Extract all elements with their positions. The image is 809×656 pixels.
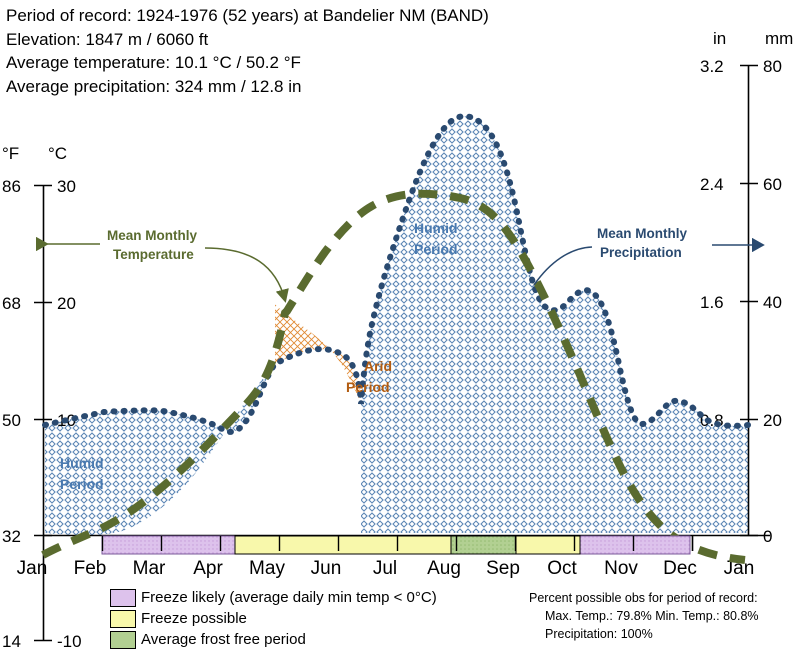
temp-annotation-line2: Temperature bbox=[113, 247, 194, 262]
right-unit-in: in bbox=[713, 29, 726, 48]
mm-tick-0: 0 bbox=[763, 527, 772, 546]
legend-row-freeze-possible: Freeze possible bbox=[110, 608, 437, 629]
f-tick-68: 68 bbox=[2, 294, 21, 313]
climate-diagram: °F °C 86 68 50 32 14 30 20 10 -10 in mm … bbox=[0, 0, 809, 656]
month-label-jul: Jul bbox=[373, 558, 397, 579]
frost-band-freeze-possible-october bbox=[516, 536, 580, 554]
legend-label-freeze-possible: Freeze possible bbox=[141, 610, 247, 627]
stats-line-temp: Max. Temp.: 79.8% Min. Temp.: 80.8% bbox=[529, 607, 759, 625]
humid-right-line2: Period bbox=[414, 241, 458, 257]
humid-region-left bbox=[45, 364, 275, 535]
humid-left-line1: Humid bbox=[60, 455, 104, 471]
legend-label-frost-free: Average frost free period bbox=[141, 631, 306, 648]
precip-annotation-line1: Mean Monthly bbox=[597, 226, 687, 241]
precip-annotation-curved-arrow bbox=[534, 247, 592, 285]
c-tick-30: 30 bbox=[57, 177, 76, 196]
arid-line2: Period bbox=[346, 379, 390, 395]
f-tick-50: 50 bbox=[2, 411, 21, 430]
in-tick-16: 1.6 bbox=[700, 293, 724, 312]
c-tick-20: 20 bbox=[57, 294, 76, 313]
right-unit-mm: mm bbox=[765, 29, 793, 48]
temp-annotation-label: Mean Monthly Temperature bbox=[107, 228, 197, 262]
mm-tick-20: 20 bbox=[763, 411, 782, 430]
c-tick-neg10: -10 bbox=[57, 632, 82, 651]
precip-annotation-line2: Precipitation bbox=[600, 245, 682, 260]
in-tick-24: 2.4 bbox=[700, 175, 724, 194]
legend-swatch-freeze-likely bbox=[110, 589, 136, 607]
humid-left-line2: Period bbox=[60, 476, 104, 492]
legend-swatch-freeze-possible bbox=[110, 610, 136, 628]
month-label-jun: Jun bbox=[311, 558, 342, 579]
stats-block: Percent possible obs for period of recor… bbox=[529, 589, 759, 643]
f-tick-32: 32 bbox=[2, 527, 21, 546]
legend-swatch-frost-free bbox=[110, 631, 136, 649]
mm-tick-80: 80 bbox=[763, 57, 782, 76]
month-label-mar: Mar bbox=[133, 558, 166, 579]
month-label-aug: Aug bbox=[427, 558, 461, 579]
humid-right-line1: Humid bbox=[414, 220, 458, 236]
temp-annotation-line1: Mean Monthly bbox=[107, 228, 197, 243]
legend-row-frost-free: Average frost free period bbox=[110, 629, 437, 650]
legend-row-freeze-likely: Freeze likely (average daily min temp < … bbox=[110, 587, 437, 608]
mm-tick-60: 60 bbox=[763, 175, 782, 194]
stats-line-precip: Precipitation: 100% bbox=[529, 625, 759, 643]
frost-band-frost-free-real bbox=[451, 536, 516, 554]
left-unit-f: °F bbox=[2, 144, 19, 163]
month-label-may: May bbox=[249, 558, 285, 579]
frost-band-freeze-possible-spring bbox=[235, 536, 451, 554]
arid-line1: Arid bbox=[364, 358, 392, 374]
temp-annotation-curved-arrow bbox=[205, 248, 285, 300]
f-tick-14: 14 bbox=[2, 632, 21, 651]
frost-band-freeze-likely-winter bbox=[102, 536, 235, 554]
legend-label-freeze-likely: Freeze likely (average daily min temp < … bbox=[141, 589, 437, 606]
month-label-feb: Feb bbox=[74, 558, 107, 579]
shaded-regions bbox=[45, 116, 748, 535]
precip-annotation-label: Mean Monthly Precipitation bbox=[597, 226, 687, 260]
month-label-sep: Sep bbox=[486, 558, 520, 579]
month-label-oct: Oct bbox=[547, 558, 577, 579]
stats-line-header: Percent possible obs for period of recor… bbox=[529, 589, 759, 607]
month-label-dec: Dec bbox=[663, 558, 697, 579]
in-tick-32: 3.2 bbox=[700, 57, 724, 76]
month-label-apr: Apr bbox=[193, 558, 223, 579]
month-label-jan: Jan bbox=[17, 558, 48, 579]
month-labels: Jan Feb Mar Apr May Jun Jul Aug Sep Oct … bbox=[17, 558, 755, 579]
left-unit-c: °C bbox=[48, 144, 67, 163]
legend: Freeze likely (average daily min temp < … bbox=[110, 587, 437, 650]
f-tick-86: 86 bbox=[2, 177, 21, 196]
month-label-nov: Nov bbox=[604, 558, 638, 579]
mm-tick-40: 40 bbox=[763, 293, 782, 312]
